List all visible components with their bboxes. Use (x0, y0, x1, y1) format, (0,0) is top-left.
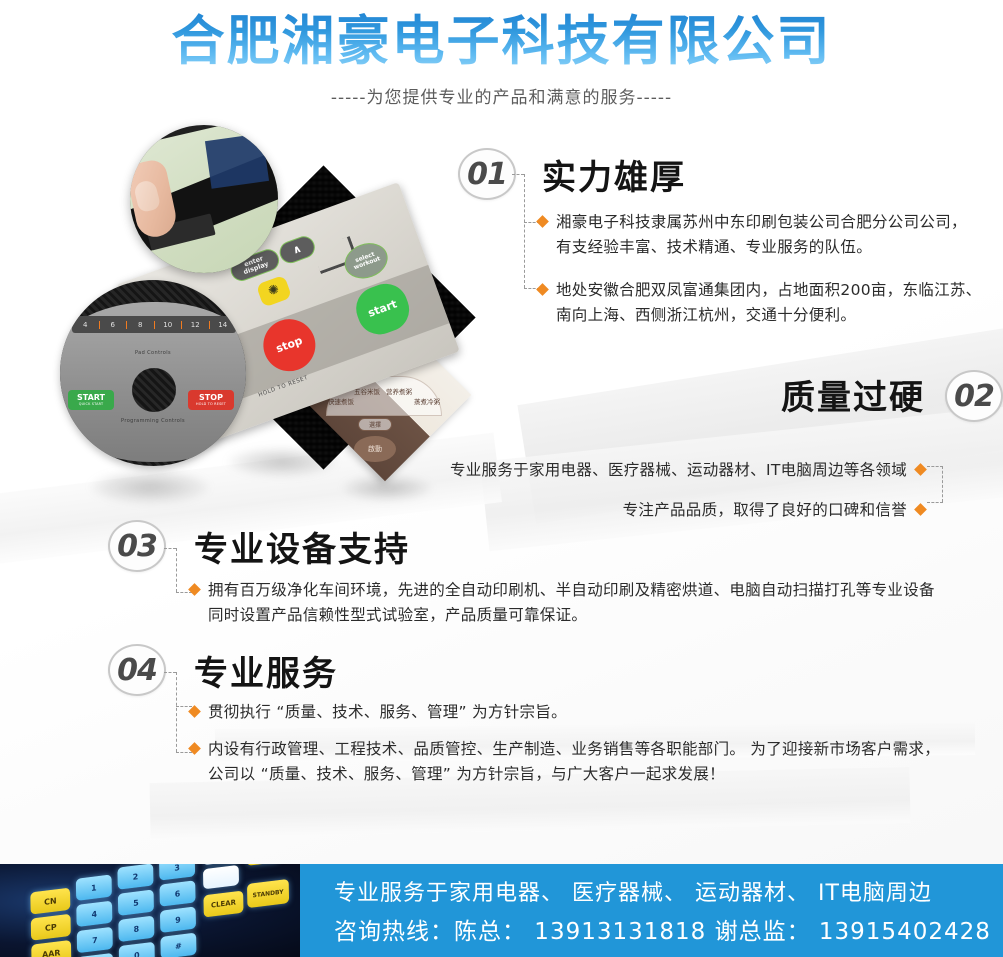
cooker-select-button[interactable]: 選擇 (358, 418, 392, 431)
programming-controls-label: Programming Controls (60, 418, 246, 424)
dashed-connector (176, 672, 177, 752)
console-cutout (132, 368, 176, 412)
treadmill-start-key[interactable]: START QUICK START (68, 390, 114, 410)
treadmill-stop-label: STOP (199, 394, 223, 402)
diamond-bullet-icon (536, 215, 549, 228)
footer-bar: CN CP AAR DTMF 1 2 3 4 5 6 7 8 9 * 0 # I… (0, 864, 1003, 957)
treadmill-stop-key[interactable]: STOP HOLD TO RESET (188, 390, 234, 410)
section-title: 实力雄厚 (542, 150, 686, 199)
dashed-tick (164, 672, 176, 673)
cooker-start-button[interactable]: 啟動 (354, 436, 396, 462)
bullet-text: 专业服务于家用电器、医疗器械、运动器材、IT电脑周边等各领域 (450, 458, 907, 483)
keypad-key-ic[interactable]: IC (246, 864, 280, 866)
keypad-key-7[interactable]: 7 (77, 927, 113, 954)
page-header: 合肥湘豪电子科技有限公司 -----为您提供专业的产品和满意的服务----- (0, 0, 1003, 108)
bullet-item: 内设有行政管理、工程技术、品质管控、生产制造、业务销售等各职能部门。 为了迎接新… (190, 737, 1000, 787)
keypad-key-star[interactable]: * (77, 953, 113, 957)
cooker-icon-label: 营养煮粥 (386, 386, 412, 396)
bullet-text: 地处安徽合肥双凤富通集团内，占地面积200亩，东临江苏、 南向上海、西侧浙江杭州… (556, 278, 982, 328)
fan-key[interactable]: ✺ (256, 275, 292, 308)
dashed-tick (512, 174, 524, 175)
keypad-key-aar[interactable]: AAR (31, 940, 71, 957)
keypad-key-hash[interactable]: # (160, 933, 196, 957)
dashed-tick (164, 548, 176, 549)
bullet-item: 专注产品品质，取得了良好的口碑和信誉 (405, 498, 925, 523)
keypad-key-8[interactable]: 8 (118, 916, 154, 943)
backlit-keypad: CN CP AAR DTMF 1 2 3 4 5 6 7 8 9 * 0 # I… (22, 864, 300, 957)
diamond-bullet-icon (188, 705, 201, 718)
bullet-item: 地处安徽合肥双凤富通集团内，占地面积200亩，东临江苏、 南向上海、西侧浙江杭州… (538, 278, 1003, 328)
section-title: 专业服务 (194, 646, 338, 695)
scale-tick: 8 (127, 321, 155, 329)
keypad-key-2[interactable]: 2 (117, 864, 153, 890)
keypad-key-cn[interactable]: CN (30, 888, 70, 915)
section-title: 专业设备支持 (194, 522, 410, 571)
bullet-text: 拥有百万级净化车间环境，先进的全自动印刷机、半自动印刷及精密烘道、电脑自动扫描打… (208, 578, 935, 628)
diamond-bullet-icon (536, 283, 549, 296)
scale-tick: 6 (100, 321, 128, 329)
membrane-peel-photo (130, 125, 278, 273)
up-arrow-key[interactable]: ∧ (277, 233, 318, 266)
section-body: 贯彻执行 “质量、技术、服务、管理” 为方针宗旨。 内设有行政管理、工程技术、品… (190, 700, 1000, 793)
section-number-badge: 02 (945, 370, 1003, 422)
scale-tick: 10 (155, 321, 183, 329)
diamond-bullet-icon (188, 583, 201, 596)
dashed-tick (927, 502, 943, 503)
bullet-text: 贯彻执行 “质量、技术、服务、管理” 为方针宗旨。 (208, 700, 567, 725)
section-body: 湘豪电子科技隶属苏州中东印刷包装公司合肥分公司公司， 有支经验丰富、技术精通、专… (538, 210, 1003, 334)
bullet-item: 贯彻执行 “质量、技术、服务、管理” 为方针宗旨。 (190, 700, 1000, 725)
section-title: 质量过硬 (781, 370, 925, 419)
diamond-bullet-icon (914, 503, 927, 516)
shadow-blob (90, 470, 210, 504)
dashed-connector (524, 174, 525, 288)
keypad-key-1[interactable]: 1 (76, 874, 112, 901)
treadmill-panel-photo: 4 6 8 10 12 14 Pad Controls START QUICK … (60, 280, 246, 466)
pad-controls-label: Pad Controls (60, 350, 246, 356)
section-body: 拥有百万级净化车间环境，先进的全自动印刷机、半自动印刷及精密烘道、电脑自动扫描打… (190, 578, 1000, 634)
bullet-item: 湘豪电子科技隶属苏州中东印刷包装公司合肥分公司公司， 有支经验丰富、技术精通、专… (538, 210, 1003, 260)
section-number-badge: 04 (108, 644, 166, 696)
keypad-key-6[interactable]: 6 (159, 880, 195, 907)
bullet-item: 拥有百万级净化车间环境，先进的全自动印刷机、半自动印刷及精密烘道、电脑自动扫描打… (190, 578, 1000, 628)
section-body: 专业服务于家用电器、医疗器械、运动器材、IT电脑周边等各领域 专注产品品质，取得… (405, 458, 925, 529)
company-slogan: -----为您提供专业的产品和满意的服务----- (0, 83, 1003, 108)
promo-page: 合肥湘豪电子科技有限公司 -----为您提供专业的产品和满意的服务----- ❀… (0, 0, 1003, 957)
scale-tick: 12 (182, 321, 210, 329)
speed-scale: 4 6 8 10 12 14 (72, 316, 236, 333)
treadmill-start-sub: QUICK START (79, 403, 103, 406)
scale-tick: 4 (72, 321, 100, 329)
bullet-text: 内设有行政管理、工程技术、品质管控、生产制造、业务销售等各职能部门。 为了迎接新… (208, 737, 940, 787)
diamond-bullet-icon (188, 742, 201, 755)
keypad-key-blank-2[interactable] (203, 865, 239, 889)
blue-overlay (205, 133, 269, 189)
bullet-item: 专业服务于家用电器、医疗器械、运动器材、IT电脑周边等各领域 (405, 458, 925, 483)
bullet-text: 湘豪电子科技隶属苏州中东印刷包装公司合肥分公司公司， 有支经验丰富、技术精通、专… (556, 210, 967, 260)
keypad-key-3[interactable]: 3 (159, 864, 195, 881)
footer-service-line: 专业服务于家用电器、 医疗器械、 运动器材、 IT电脑周边 (334, 875, 1003, 907)
footer-contact-block: 专业服务于家用电器、 医疗器械、 运动器材、 IT电脑周边 咨询热线：陈总： 1… (300, 864, 1003, 957)
page-title: 合肥湘豪电子科技有限公司 (0, 0, 1003, 71)
keypad-key-clear[interactable]: CLEAR (203, 891, 243, 918)
section-number-badge: 01 (458, 148, 516, 200)
dashed-connector (176, 548, 177, 592)
keypad-key-4[interactable]: 4 (76, 901, 112, 928)
cooker-icon-label: 蒸煮冷粥 (414, 396, 440, 406)
diamond-bullet-icon (914, 463, 927, 476)
treadmill-start-label: START (77, 394, 105, 402)
dashed-connector (942, 466, 943, 502)
keypad-key-standby[interactable]: STANDBY (247, 879, 289, 908)
keypad-key-9[interactable]: 9 (160, 906, 196, 933)
section-number-badge: 03 (108, 520, 166, 572)
footer-hotline: 咨询热线：陈总： 13913131818 谢总监： 13915402428 (334, 912, 1003, 946)
keypad-key-cp[interactable]: CP (31, 914, 71, 941)
keypad-key-5[interactable]: 5 (118, 889, 154, 916)
bullet-text: 专注产品品质，取得了良好的口碑和信誉 (623, 498, 907, 523)
keypad-photo: CN CP AAR DTMF 1 2 3 4 5 6 7 8 9 * 0 # I… (0, 864, 300, 957)
scale-tick: 14 (210, 321, 237, 329)
keypad-key-0[interactable]: 0 (119, 942, 155, 957)
dashed-tick (927, 466, 943, 467)
treadmill-stop-sub: HOLD TO RESET (196, 403, 226, 406)
